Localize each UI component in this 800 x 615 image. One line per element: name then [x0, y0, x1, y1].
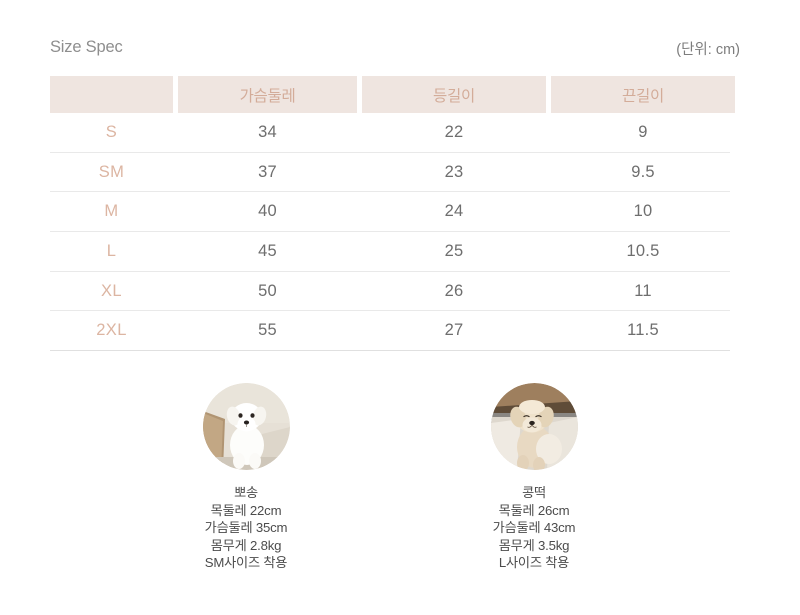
unit-note: (단위: cm) [676, 40, 740, 60]
title-row: Size Spec (단위: cm) [50, 36, 740, 62]
model-weight: 몸무게 2.8kg [205, 537, 288, 555]
page-title: Size Spec [50, 36, 123, 58]
cell-back: 23 [362, 153, 546, 192]
cell-size: L [50, 232, 173, 271]
table-row: XL 50 26 11 [50, 272, 730, 312]
cell-strap: 9 [551, 113, 735, 152]
cell-back: 26 [362, 272, 546, 311]
table-header-cell-chest: 가슴둘레 [178, 76, 357, 113]
model-worn-size: L사이즈 착용 [493, 554, 576, 572]
model-neck: 목둘레 26cm [493, 502, 576, 520]
cell-chest: 55 [178, 311, 357, 350]
cell-back: 24 [362, 192, 546, 231]
cell-size: SM [50, 153, 173, 192]
cell-chest: 45 [178, 232, 357, 271]
cell-size: M [50, 192, 173, 231]
table-row: 2XL 55 27 11.5 [50, 311, 730, 351]
model-weight: 몸무게 3.5kg [493, 537, 576, 555]
size-spec-table: 가슴둘레 등길이 끈길이 S 34 22 9 SM 37 23 9.5 M 40… [50, 76, 730, 351]
cell-chest: 37 [178, 153, 357, 192]
model-name: 콩떡 [493, 484, 576, 502]
table-row: SM 37 23 9.5 [50, 153, 730, 193]
model-name: 뽀송 [205, 484, 288, 502]
cell-back: 25 [362, 232, 546, 271]
cell-chest: 50 [178, 272, 357, 311]
table-row: M 40 24 10 [50, 192, 730, 232]
cell-strap: 11 [551, 272, 735, 311]
model-caption: 뽀송 목둘레 22cm 가슴둘레 35cm 몸무게 2.8kg SM사이즈 착용 [205, 484, 288, 572]
cell-size: S [50, 113, 173, 152]
model-worn-size: SM사이즈 착용 [205, 554, 288, 572]
table-row: S 34 22 9 [50, 113, 730, 153]
table-header-cell-back: 등길이 [362, 76, 546, 113]
model-neck: 목둘레 22cm [205, 502, 288, 520]
cell-back: 27 [362, 311, 546, 350]
model-card: 콩떡 목둘레 26cm 가슴둘레 43cm 몸무게 3.5kg L사이즈 착용 [444, 383, 624, 572]
cell-back: 22 [362, 113, 546, 152]
cell-chest: 40 [178, 192, 357, 231]
cell-strap: 10 [551, 192, 735, 231]
cell-strap: 9.5 [551, 153, 735, 192]
cell-size: XL [50, 272, 173, 311]
dog-photo-bbosong [203, 383, 290, 470]
table-header-row: 가슴둘레 등길이 끈길이 [50, 76, 730, 113]
model-chest: 가슴둘레 35cm [205, 519, 288, 537]
table-header-cell-size [50, 76, 173, 113]
table-row: L 45 25 10.5 [50, 232, 730, 272]
model-caption: 콩떡 목둘레 26cm 가슴둘레 43cm 몸무게 3.5kg L사이즈 착용 [493, 484, 576, 572]
white-dog-illustration [203, 383, 290, 470]
model-chest: 가슴둘레 43cm [493, 519, 576, 537]
model-card: 뽀송 목둘레 22cm 가슴둘레 35cm 몸무게 2.8kg SM사이즈 착용 [156, 383, 336, 572]
cell-strap: 11.5 [551, 311, 735, 350]
table-header-cell-strap: 끈길이 [551, 76, 735, 113]
cream-dog-illustration [491, 383, 578, 470]
model-gallery: 뽀송 목둘레 22cm 가슴둘레 35cm 몸무게 2.8kg SM사이즈 착용 [50, 383, 730, 572]
size-spec-page: Size Spec (단위: cm) 가슴둘레 등길이 끈길이 S 34 22 … [0, 0, 800, 615]
table-body: S 34 22 9 SM 37 23 9.5 M 40 24 10 L 45 2… [50, 113, 730, 351]
cell-chest: 34 [178, 113, 357, 152]
dog-photo-kongtteok [491, 383, 578, 470]
cell-size: 2XL [50, 311, 173, 350]
cell-strap: 10.5 [551, 232, 735, 271]
